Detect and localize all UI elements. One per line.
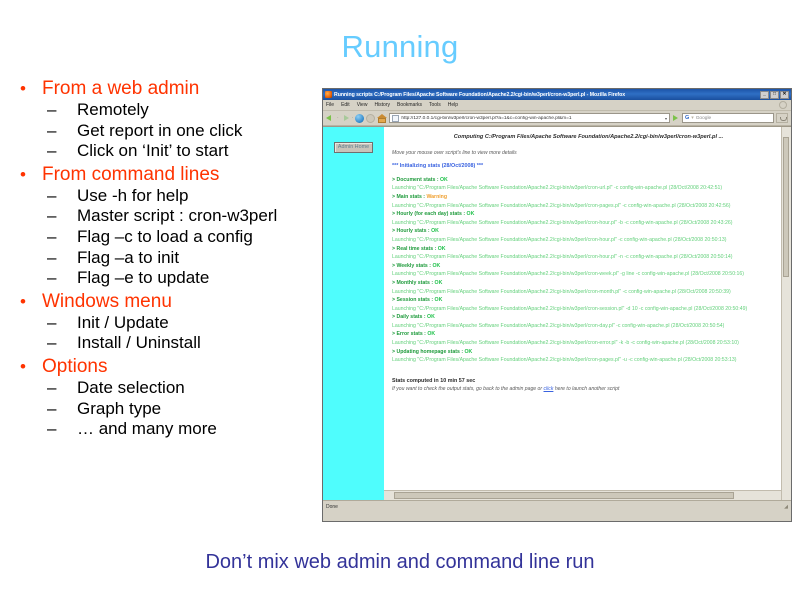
page-sidebar: Admin Home — [323, 127, 384, 500]
outline-sub-label: Date selection — [77, 378, 328, 398]
admin-home-button[interactable]: Admin Home — [334, 142, 373, 153]
outline-heading-label: From a web admin — [42, 78, 328, 99]
log-launch-line: Launching "C:/Program Files/Apache Softw… — [392, 323, 785, 330]
log-launch-line: Launching "C:/Program Files/Apache Softw… — [392, 357, 785, 364]
page-viewport: Admin Home Computing C:/Program Files/Ap… — [323, 126, 791, 500]
outline-sub-label: Get report in one click — [77, 121, 328, 141]
status-badge: Warning — [426, 194, 447, 200]
search-separator: ▾ — [691, 116, 693, 121]
address-bar-value: http://127.0.0.1/cgi-bin/w3perl/cron-w3p… — [401, 116, 571, 121]
dash-marker: – — [8, 333, 77, 353]
outline-heading-label: From command lines — [42, 164, 328, 185]
log-step-label: > Daily stats : — [392, 314, 426, 320]
outline-sub-item: –Click on ‘Init’ to start — [8, 141, 328, 161]
log-launch-line: Launching "C:/Program Files/Apache Softw… — [392, 289, 785, 296]
vertical-scrollbar-thumb[interactable] — [783, 137, 789, 277]
mouseover-hint: Move your mouse over script's line to vi… — [392, 150, 785, 157]
bullet-outline: •From a web admin–Remotely–Get report in… — [8, 78, 328, 442]
log-step-label: > Session stats : — [392, 297, 433, 303]
page-content: Computing C:/Program Files/Apache Softwa… — [384, 127, 791, 500]
browser-menubar: FileEditViewHistoryBookmarksToolsHelp — [323, 100, 791, 111]
page-favicon — [392, 115, 399, 122]
outline-sub-label: … and many more — [77, 419, 328, 439]
toolbar-separator-1: · — [337, 115, 339, 121]
back-button-icon[interactable] — [326, 114, 335, 123]
browser-titlebar: Running scripts C:/Program Files/Apache … — [323, 89, 791, 100]
outline-sub-label: Flag –e to update — [77, 268, 328, 288]
after-suffix: here to launch another script — [553, 386, 619, 392]
outline-sub-item: –… and many more — [8, 419, 328, 439]
outline-group: •Windows menu–Init / Update–Install / Un… — [8, 291, 328, 353]
menu-item-history[interactable]: History — [374, 102, 390, 108]
menu-item-tools[interactable]: Tools — [429, 102, 441, 108]
google-icon: G — [685, 115, 689, 121]
dash-marker: – — [8, 419, 77, 439]
log-launch-line: Launching "C:/Program Files/Apache Softw… — [392, 306, 785, 313]
status-badge: OK — [432, 263, 440, 269]
status-badge: OK — [435, 297, 443, 303]
outline-group: •From a web admin–Remotely–Get report in… — [8, 78, 328, 161]
browser-window: Running scripts C:/Program Files/Apache … — [322, 88, 792, 522]
outline-sub-item: –Install / Uninstall — [8, 333, 328, 353]
launch-another-script-line: If you want to check the output stats, g… — [392, 386, 785, 393]
dash-marker: – — [8, 248, 77, 268]
log-step-label: > Updating homepage stats : — [392, 349, 463, 355]
outline-sub-item: –Date selection — [8, 378, 328, 398]
outline-sub-item: –Flag –e to update — [8, 268, 328, 288]
outline-sub-label: Remotely — [77, 100, 328, 120]
dash-marker: – — [8, 100, 77, 120]
dash-marker: – — [8, 186, 77, 206]
click-link[interactable]: click — [544, 386, 554, 392]
forward-button-icon[interactable] — [341, 114, 350, 123]
log-step-label: > Weekly stats : — [392, 263, 431, 269]
window-controls: _ □ ✕ — [760, 91, 789, 99]
log-launch-line: Launching "C:/Program Files/Apache Softw… — [392, 203, 785, 210]
browser-navigation-toolbar: · · http://127.0.0.1/cgi-bin/w3perl/cron… — [323, 111, 791, 126]
toolbar-overflow-button[interactable] — [776, 113, 788, 123]
outline-group: •From command lines–Use -h for help–Mast… — [8, 164, 328, 288]
bullet-marker: • — [8, 291, 42, 312]
status-badge: OK — [440, 177, 448, 183]
log-launch-line: Launching "C:/Program Files/Apache Softw… — [392, 185, 785, 192]
stats-computed-text: Stats computed in 10 min 57 sec — [392, 378, 785, 385]
log-step-label: > Monthly stats : — [392, 280, 433, 286]
resize-grip-icon[interactable]: ◢ — [784, 504, 788, 510]
toolbar-separator-2: · — [352, 115, 354, 121]
vertical-scrollbar[interactable] — [781, 127, 791, 500]
outline-sub-label: Master script : cron-w3perl — [77, 206, 328, 226]
reload-button-icon[interactable] — [355, 114, 364, 123]
bullet-marker: • — [8, 78, 42, 99]
chevron-down-icon[interactable]: ▾ — [665, 116, 667, 121]
search-input[interactable]: G ▾ Google — [682, 113, 774, 123]
horizontal-scrollbar-thumb[interactable] — [394, 492, 734, 499]
outline-sub-item: –Graph type — [8, 399, 328, 419]
status-badge: OK — [465, 349, 473, 355]
outline-sub-item: –Flag –c to load a config — [8, 227, 328, 247]
status-badge: OK — [438, 246, 446, 252]
after-prefix: If you want to check the output stats, g… — [392, 386, 544, 392]
dash-marker: – — [8, 268, 77, 288]
dash-marker: – — [8, 141, 77, 161]
outline-heading-label: Windows menu — [42, 291, 328, 312]
log-launch-line: Launching "C:/Program Files/Apache Softw… — [392, 340, 785, 347]
status-text: Done — [326, 504, 338, 510]
throbber-icon — [779, 101, 787, 109]
script-log: > Document stats : OKLaunching "C:/Progr… — [392, 177, 785, 364]
log-status-line: > Weekly stats : OK — [392, 263, 785, 270]
log-step-label: > Real time stats : — [392, 246, 436, 252]
outline-sub-label: Flag –c to load a config — [77, 227, 328, 247]
firefox-logo-icon — [325, 91, 332, 98]
log-status-line: > Updating homepage stats : OK — [392, 349, 785, 356]
log-launch-line: Launching "C:/Program Files/Apache Softw… — [392, 254, 785, 261]
slide-caption: Don’t mix web admin and command line run — [0, 551, 800, 574]
outline-heading: •Options — [8, 356, 328, 377]
outline-sub-label: Use -h for help — [77, 186, 328, 206]
dash-marker: – — [8, 399, 77, 419]
bullet-marker: • — [8, 164, 42, 185]
log-status-line: > Hourly stats : OK — [392, 228, 785, 235]
status-badge: OK — [427, 314, 435, 320]
outline-sub-item: –Get report in one click — [8, 121, 328, 141]
outline-sub-label: Install / Uninstall — [77, 333, 328, 353]
initializing-stats-header: *** Initializing stats (28/Oct/2008) *** — [392, 163, 785, 170]
log-launch-line: Launching "C:/Program Files/Apache Softw… — [392, 271, 785, 278]
dash-marker: – — [8, 378, 77, 398]
close-button[interactable]: ✕ — [780, 91, 789, 99]
computing-heading: Computing C:/Program Files/Apache Softwa… — [392, 134, 785, 141]
log-step-label: > Main stats : — [392, 194, 425, 200]
menu-item-edit[interactable]: Edit — [341, 102, 350, 108]
outline-sub-item: –Use -h for help — [8, 186, 328, 206]
log-status-line: > Error stats : OK — [392, 331, 785, 338]
menu-item-bookmarks[interactable]: Bookmarks — [397, 102, 422, 108]
outline-sub-label: Flag –a to init — [77, 248, 328, 268]
outline-group: •Options–Date selection–Graph type–… and… — [8, 356, 328, 439]
outline-heading-label: Options — [42, 356, 328, 377]
outline-sub-label: Graph type — [77, 399, 328, 419]
stop-button-icon[interactable] — [366, 114, 375, 123]
log-status-line: > Main stats : Warning — [392, 194, 785, 201]
outline-sub-item: –Init / Update — [8, 313, 328, 333]
address-bar[interactable]: http://127.0.0.1/cgi-bin/w3perl/cron-w3p… — [389, 113, 670, 123]
home-button-icon[interactable] — [377, 114, 387, 123]
outline-heading: •Windows menu — [8, 291, 328, 312]
outline-heading: •From command lines — [8, 164, 328, 185]
outline-sub-label: Click on ‘Init’ to start — [77, 141, 328, 161]
horizontal-scrollbar[interactable] — [384, 490, 791, 500]
browser-statusbar: Done ◢ — [323, 500, 791, 512]
menu-item-help[interactable]: Help — [448, 102, 458, 108]
status-badge: OK — [427, 331, 435, 337]
outline-sub-item: –Remotely — [8, 100, 328, 120]
log-launch-line: Launching "C:/Program Files/Apache Softw… — [392, 237, 785, 244]
log-step-label: > Error stats : — [392, 331, 426, 337]
outline-heading: •From a web admin — [8, 78, 328, 99]
outline-sub-item: –Master script : cron-w3perl — [8, 206, 328, 226]
status-badge: OK — [431, 228, 439, 234]
menu-item-view[interactable]: View — [357, 102, 368, 108]
outline-sub-item: –Flag –a to init — [8, 248, 328, 268]
outline-sub-label: Init / Update — [77, 313, 328, 333]
log-status-line: > Session stats : OK — [392, 297, 785, 304]
bullet-marker: • — [8, 356, 42, 377]
log-step-label: > Hourly stats : — [392, 228, 430, 234]
log-step-label: > Document stats : — [392, 177, 439, 183]
log-step-label: > Hourly (for each day) stats : — [392, 211, 465, 217]
log-footer-gap — [392, 365, 785, 372]
minimize-button[interactable]: _ — [760, 91, 769, 99]
dash-marker: – — [8, 206, 77, 226]
log-status-line: > Daily stats : OK — [392, 314, 785, 321]
search-placeholder: Google — [696, 116, 711, 121]
status-badge: OK — [435, 280, 443, 286]
dash-marker: – — [8, 227, 77, 247]
dash-marker: – — [8, 313, 77, 333]
log-status-line: > Real time stats : OK — [392, 246, 785, 253]
go-button-icon[interactable] — [672, 114, 680, 123]
maximize-button[interactable]: □ — [770, 91, 779, 99]
window-title: Running scripts C:/Program Files/Apache … — [334, 92, 760, 98]
log-launch-line: Launching "C:/Program Files/Apache Softw… — [392, 220, 785, 227]
log-status-line: > Document stats : OK — [392, 177, 785, 184]
status-badge: OK — [467, 211, 475, 217]
dash-marker: – — [8, 121, 77, 141]
page-title: Running — [0, 29, 800, 65]
menu-item-file[interactable]: File — [326, 102, 334, 108]
log-status-line: > Hourly (for each day) stats : OK — [392, 211, 785, 218]
log-status-line: > Monthly stats : OK — [392, 280, 785, 287]
